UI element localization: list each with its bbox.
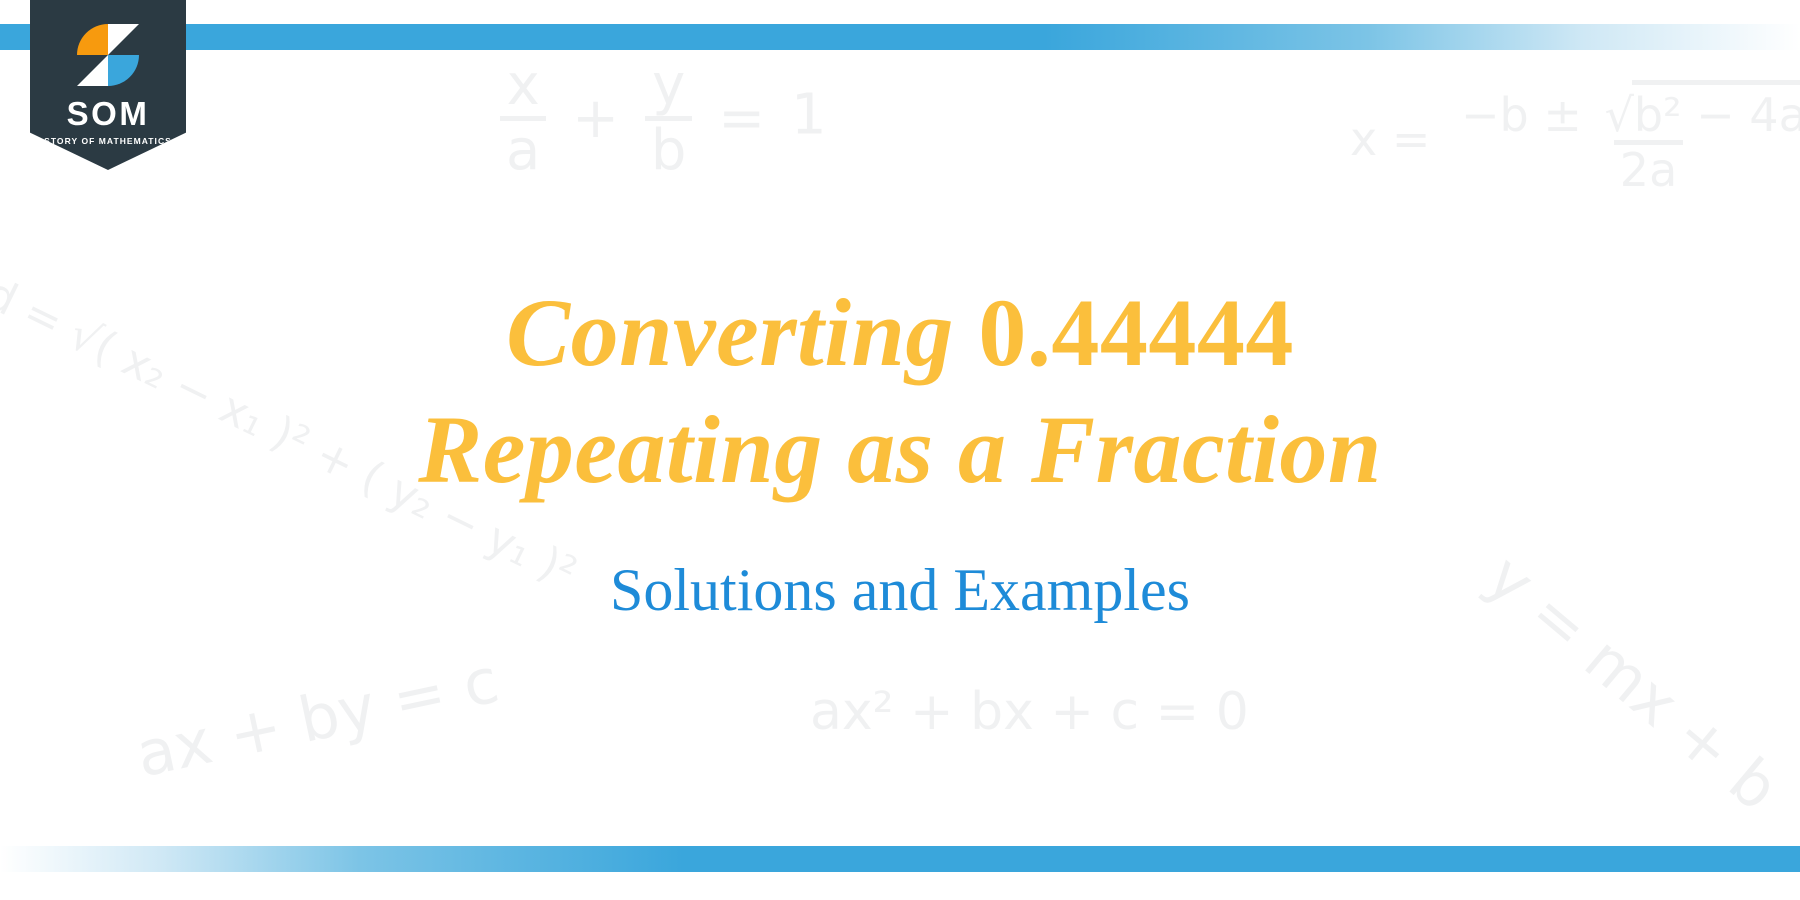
som-wordmark: SOM [67,97,150,130]
slide-title-line1-italic: Converting [506,279,954,386]
som-tagline: STORY OF MATHEMATICS [44,137,172,146]
slide-title: Converting 0.44444 Repeating as a Fracti… [418,274,1382,508]
slide-content: Converting 0.44444 Repeating as a Fracti… [0,0,1800,900]
slide-title-line2: Repeating as a Fraction [418,396,1382,503]
slide-subtitle: Solutions and Examples [610,554,1190,626]
presentation-slide: x a + y b = 1 x = −b ± √b² − 4ac 2a d = … [0,0,1800,900]
slide-title-number: 0.44444 [978,279,1294,386]
som-logo-icon [75,22,141,88]
